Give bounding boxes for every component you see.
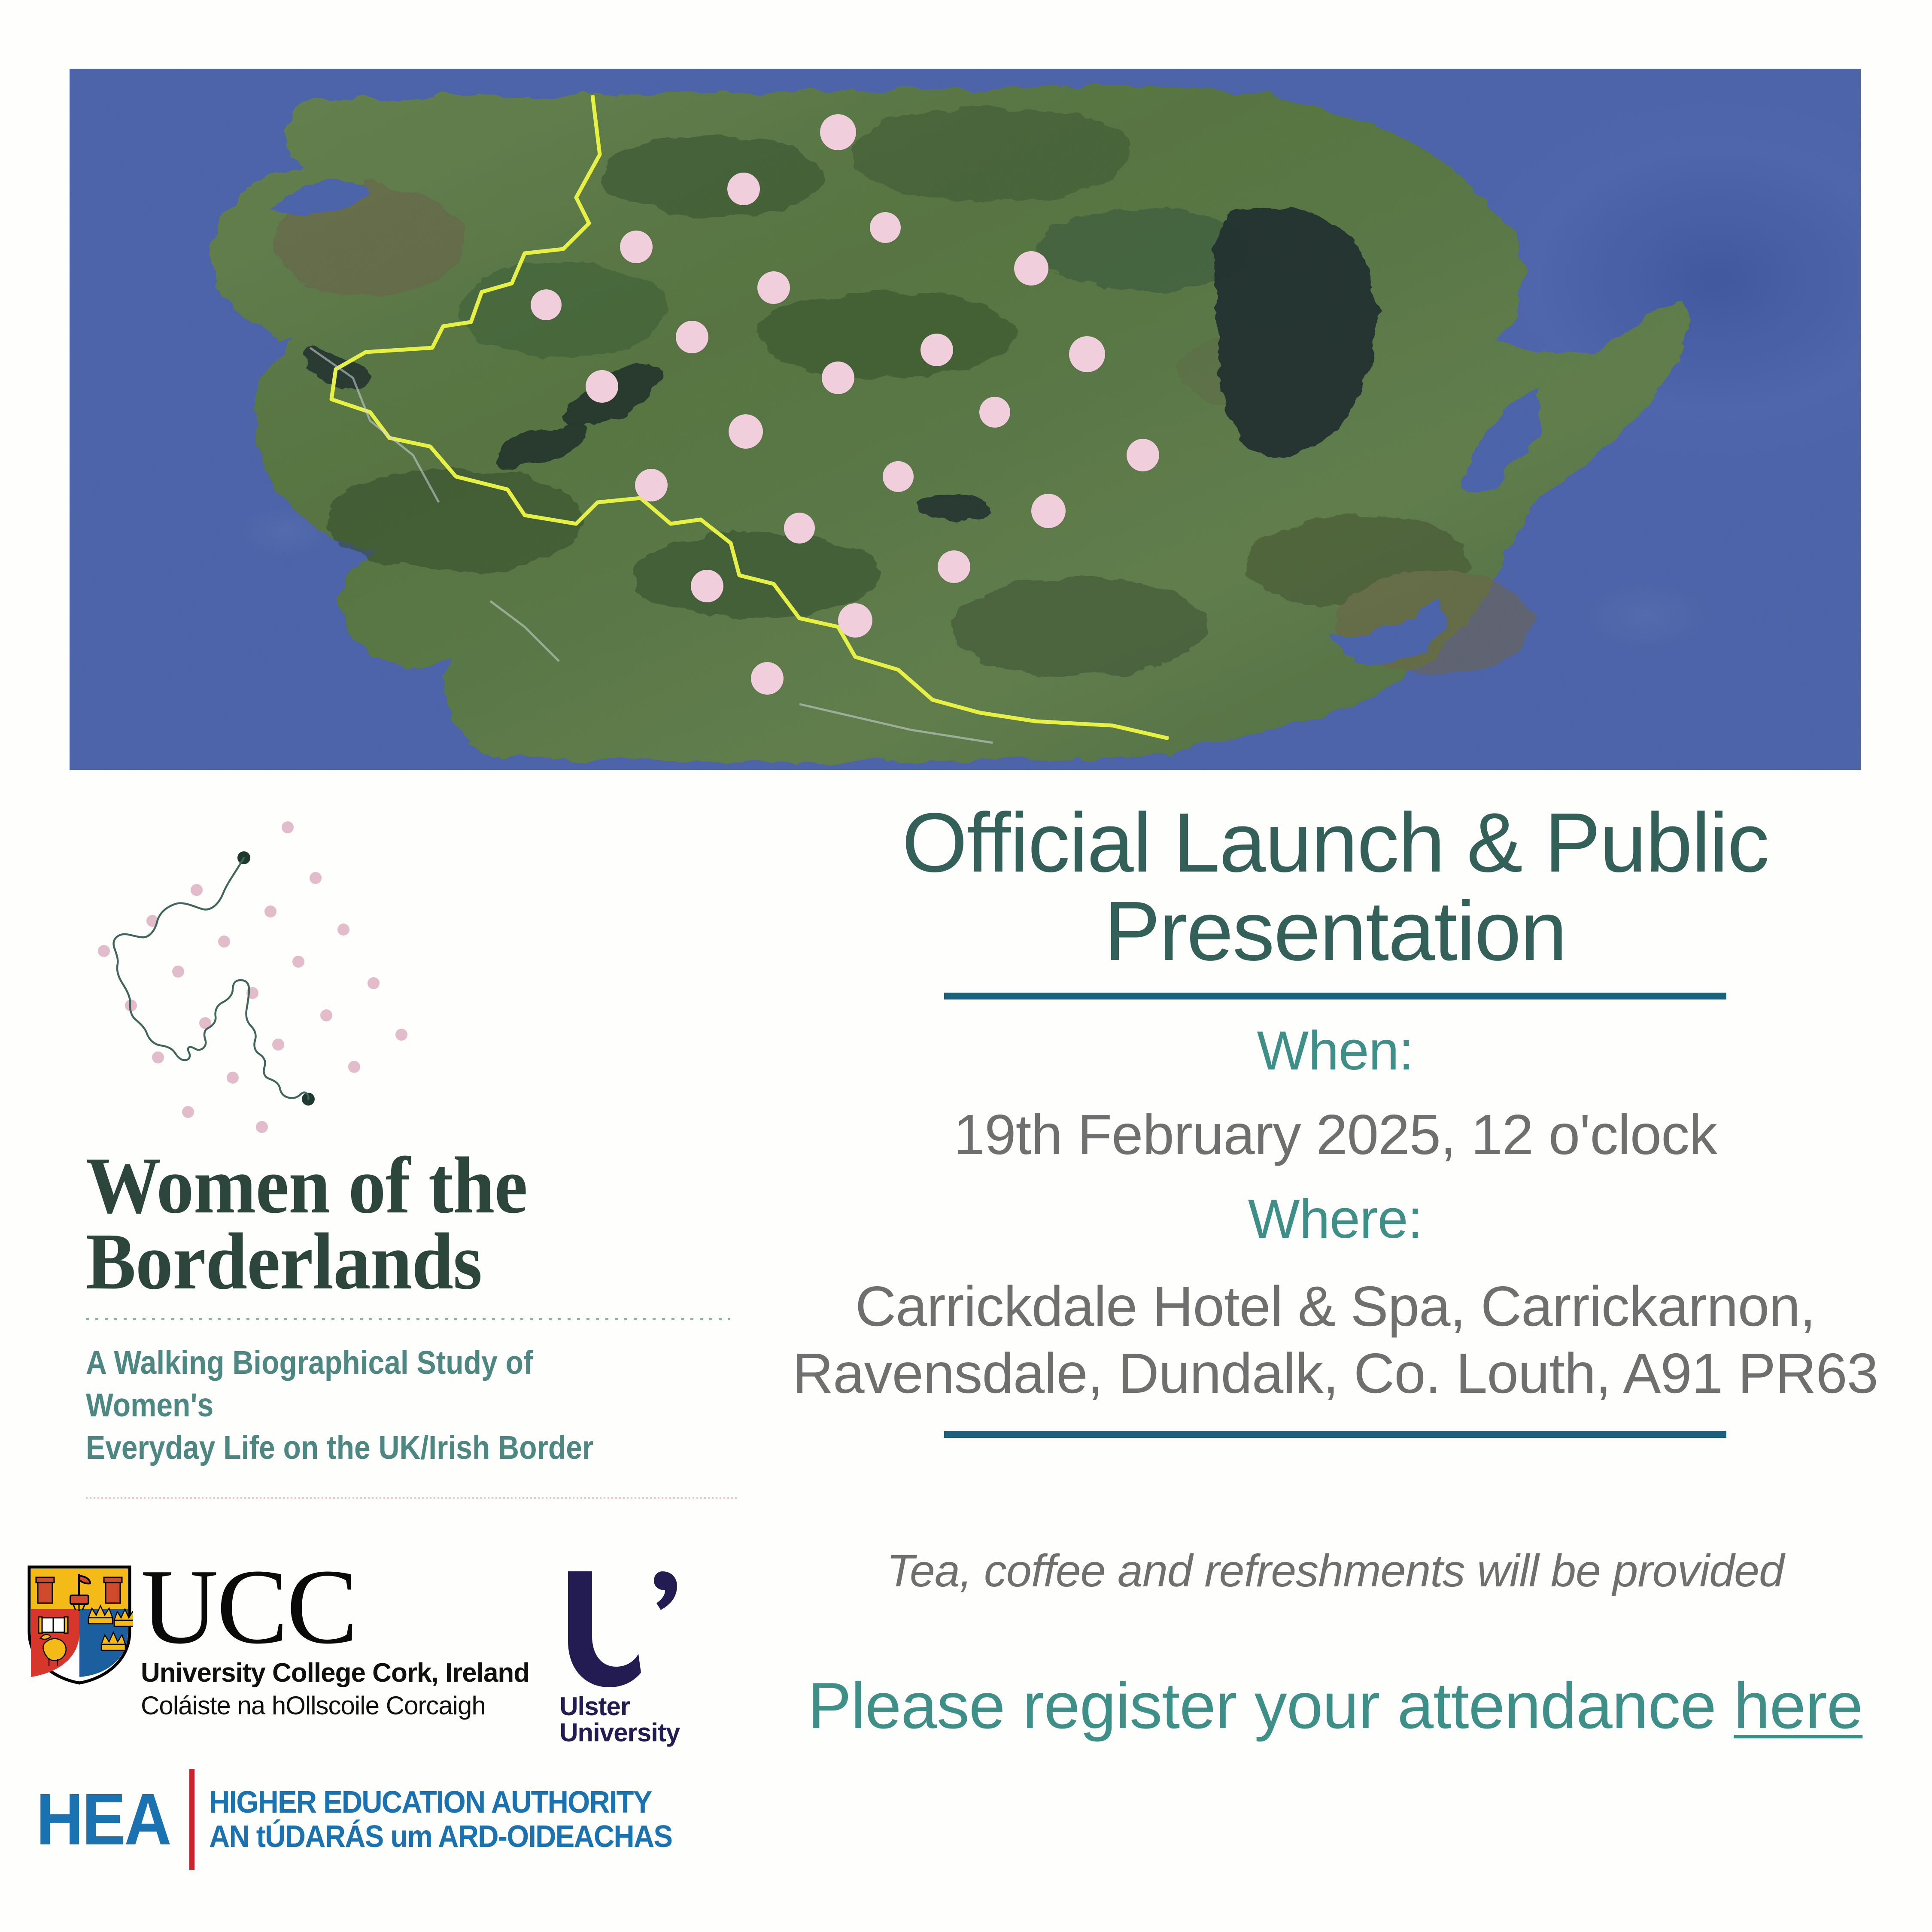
map-site-dot <box>1031 494 1066 528</box>
where-label: Where: <box>786 1188 1885 1251</box>
ulster-name-line-1: Ulster <box>559 1693 705 1719</box>
ucc-coat-of-arms-icon <box>26 1563 133 1687</box>
address-divider-rule <box>944 1431 1726 1438</box>
brand-title: Women of the Borderlands <box>86 1148 737 1299</box>
hea-name-irish: AN tÚDARÁS um ARD-OIDEACHAS <box>209 1820 672 1854</box>
brand-mark-dot <box>310 872 322 884</box>
brand-mark-dot <box>264 905 276 917</box>
brand-mark-dot <box>348 1061 360 1073</box>
ulster-university-u-icon <box>559 1565 705 1690</box>
map-site-dot <box>820 114 856 150</box>
map-site-dot <box>838 603 872 638</box>
map-site-dot <box>979 397 1010 428</box>
map-site-dot <box>751 662 784 695</box>
map-site-dot <box>586 370 618 403</box>
brand-title-line-1: Women of the <box>86 1148 737 1224</box>
brand-mark-dot <box>395 1029 407 1041</box>
map-site-dot <box>784 513 815 544</box>
map-site-dot <box>691 570 723 602</box>
map-site-dot <box>1127 439 1159 471</box>
map-site-dot <box>620 231 653 263</box>
map-site-dot <box>883 461 914 492</box>
ucc-name-irish: Coláiste na hOllscoile Corcaigh <box>141 1691 529 1720</box>
brand-mark-dot <box>320 1009 332 1021</box>
map-site-dot <box>870 212 901 243</box>
event-details: Official Launch & Public Presentation Wh… <box>786 799 1885 1744</box>
when-label: When: <box>786 1019 1885 1082</box>
partner-logos: UCC University College Cork, Ireland Col… <box>26 1563 764 1870</box>
brand-title-line-2: Borderlands <box>86 1224 737 1300</box>
satellite-map-banner <box>70 69 1861 770</box>
title-divider-rule <box>944 993 1726 999</box>
event-poster: Women of the Borderlands A Walking Biogr… <box>0 0 1932 1932</box>
map-site-dot <box>727 173 760 205</box>
brand-subtitle-line-1: A Walking Biographical Study of Women's <box>86 1342 630 1426</box>
ucc-logo: UCC University College Cork, Ireland Col… <box>26 1563 529 1720</box>
border-walk-route-map-icon <box>73 796 468 1140</box>
brand-subtitle: A Walking Biographical Study of Women's … <box>86 1342 630 1469</box>
brand-mark-dot <box>292 956 304 968</box>
registration-call-to-action: Please register your attendance here <box>786 1668 1885 1744</box>
brand-mark-dot <box>218 936 230 948</box>
brand-mark-dot <box>98 945 110 957</box>
map-site-dot <box>676 321 708 353</box>
brand-divider-green <box>86 1318 730 1320</box>
brand-subtitle-line-2: Everyday Life on the UK/Irish Border <box>86 1427 630 1469</box>
hea-name-english: HIGHER EDUCATION AUTHORITY <box>209 1785 672 1820</box>
map-landmass <box>70 69 1861 770</box>
where-value: Carrickdale Hotel & Spa, Carrickarnon, R… <box>786 1273 1885 1407</box>
ulster-university-wordmark: Ulster University <box>559 1693 705 1746</box>
brand-mark-dot <box>182 1106 194 1118</box>
brand-mark-dot <box>227 1072 239 1084</box>
brand-mark-dot <box>191 884 203 896</box>
when-value: 19th February 2025, 12 o'clock <box>786 1101 1885 1168</box>
hea-logo: HEA HIGHER EDUCATION AUTHORITY AN tÚDARÁ… <box>36 1769 764 1870</box>
map-site-dot <box>531 289 562 320</box>
map-site-dot <box>757 271 790 304</box>
brand-divider-pink <box>86 1497 738 1499</box>
cta-text: Please register your attendance <box>808 1669 1716 1742</box>
hea-wordmark: HEA <box>36 1783 170 1856</box>
event-title: Official Launch & Public Presentation <box>786 799 1885 975</box>
map-site-dot <box>1014 251 1048 286</box>
brand-mark-dot <box>282 821 294 833</box>
hea-divider-bar <box>189 1769 194 1870</box>
map-site-dot <box>729 414 763 449</box>
refreshments-note: Tea, coffee and refreshments will be pro… <box>786 1545 1885 1597</box>
brand-mark-dot <box>172 966 184 978</box>
register-here-link[interactable]: here <box>1734 1669 1862 1742</box>
ulster-name-line-2: University <box>559 1719 705 1746</box>
ucc-wordmark: UCC <box>141 1563 529 1651</box>
ulster-university-logo: Ulster University <box>559 1565 705 1746</box>
brand-mark-dot <box>337 923 349 936</box>
map-site-dot <box>920 334 953 366</box>
map-site-dot <box>635 469 668 501</box>
brand-mark-dot <box>152 1051 164 1063</box>
ucc-name-english: University College Cork, Ireland <box>141 1658 529 1688</box>
brand-mark-dot <box>368 977 380 989</box>
map-site-dot <box>938 550 970 583</box>
brand-mark-dot <box>256 1121 268 1133</box>
map-site-dot <box>822 361 854 394</box>
map-site-dot <box>1069 336 1105 372</box>
brand-mark-dot <box>272 1039 284 1051</box>
project-brand-block: Women of the Borderlands A Walking Biogr… <box>64 796 786 1499</box>
